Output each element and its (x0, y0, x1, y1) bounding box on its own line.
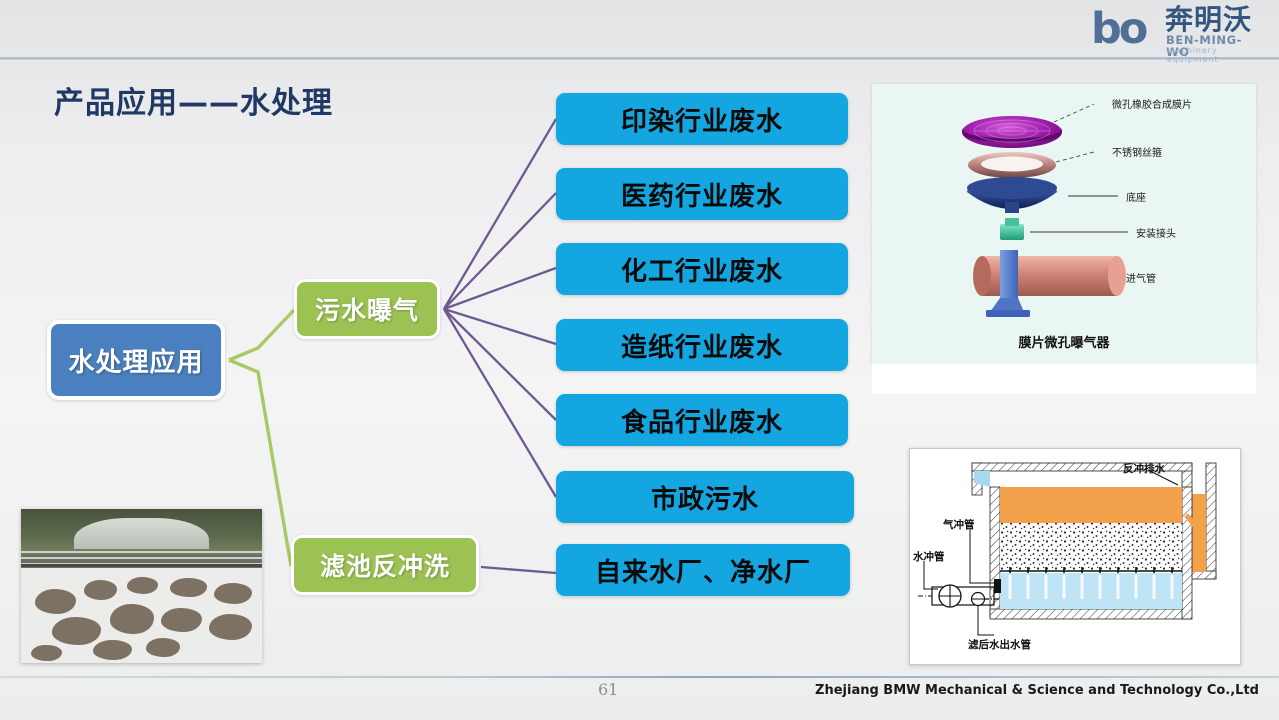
mindmap-leaf-node-chemical[interactable]: 化工行业废水 (556, 243, 848, 295)
mindmap-leaf-node-paper[interactable]: 造纸行业废水 (556, 319, 848, 371)
photo-sludge-blob (84, 580, 118, 600)
connector-branch0-leaf0 (444, 119, 556, 309)
photo-sludge-blob (209, 614, 252, 640)
page-number: 61 (598, 680, 618, 699)
photo-sludge-blob (35, 589, 76, 614)
photo-sludge-blob (161, 608, 202, 633)
filter-backwash-drawing (910, 449, 1240, 664)
connector-branch0-leaf2 (444, 268, 556, 309)
mindmap-leaf-node-dyeing[interactable]: 印染行业废水 (556, 93, 848, 145)
filter-label-water-pipe: 水冲管 (913, 549, 945, 564)
aerator-label-connector: 安装接头 (1136, 225, 1176, 240)
filter-label-filtrate-outlet: 滤后水出水管 (968, 637, 1031, 652)
connector-branch0-leaf3 (444, 309, 556, 344)
connector-branch1-leaf6 (481, 567, 556, 573)
logo-mark-icon: bo (1091, 8, 1145, 51)
aerator-label-membrane: 微孔橡胶合成膜片 (1112, 96, 1192, 111)
mindmap-leaf-node-food[interactable]: 食品行业废水 (556, 394, 848, 446)
filter-label-air-pipe: 气冲管 (943, 517, 975, 532)
filter-label-backwash-drain: 反冲排水 (1123, 461, 1165, 476)
logo-tagline: machinery equipment (1167, 46, 1265, 64)
photo-sludge-blob (146, 638, 180, 656)
mindmap-root-node[interactable]: 水处理应用 (47, 320, 225, 400)
membrane-aerator-diagram: 微孔橡胶合成膜片 不锈钢丝箍 底座 安装接头 进气管 膜片微孔曝气器 (872, 84, 1256, 364)
filter-backwash-diagram: 反冲排水 气冲管 水冲管 滤后水出水管 (909, 448, 1241, 665)
mindmap-leaf-node-waterworks[interactable]: 自来水厂、净水厂 (556, 544, 850, 596)
mindmap-leaf-node-municipal[interactable]: 市政污水 (556, 471, 854, 523)
mindmap-branch-node-aeration[interactable]: 污水曝气 (294, 279, 440, 339)
footer-divider (0, 676, 1279, 678)
slide-canvas: bo 奔明沃 BEN-MING-WO machinery equipment 产… (0, 0, 1279, 720)
connector-branch0-leaf5 (444, 309, 556, 497)
connector-branch0-leaf1 (444, 193, 556, 309)
aerator-label-inlet-pipe: 进气管 (1126, 270, 1156, 285)
aerator-caption: 膜片微孔曝气器 (872, 332, 1256, 351)
connector-branch0-leaf4 (444, 309, 556, 420)
page-title: 产品应用——水处理 (54, 78, 333, 122)
aerator-white-strip (872, 364, 1256, 394)
logo-chinese-name: 奔明沃 (1165, 5, 1252, 35)
connector-root-to-branch-0 (229, 310, 294, 360)
aerator-label-steel-ring: 不锈钢丝箍 (1112, 144, 1162, 159)
photo-sludge-blob (170, 578, 206, 596)
photo-sludge-blob (31, 645, 62, 662)
photo-sludge-blob (127, 577, 158, 594)
photo-sludge-blob (93, 640, 132, 660)
footer-company-name: Zhejiang BMW Mechanical & Science and Te… (815, 683, 1259, 698)
aerator-label-base: 底座 (1126, 189, 1146, 204)
mindmap-leaf-node-pharmaceutical[interactable]: 医药行业废水 (556, 168, 848, 220)
photo-sludge-blob (110, 604, 153, 633)
header-divider (0, 57, 1279, 60)
photo-building (74, 518, 209, 549)
photo-sludge-blob (52, 617, 100, 645)
company-logo: bo 奔明沃 BEN-MING-WO machinery equipment (1089, 4, 1265, 54)
mindmap-branch-node-backwash[interactable]: 滤池反冲洗 (291, 535, 479, 595)
photo-pipe (21, 564, 262, 567)
aerator-drawing (872, 84, 1256, 364)
aeration-tank-photo (21, 509, 262, 663)
